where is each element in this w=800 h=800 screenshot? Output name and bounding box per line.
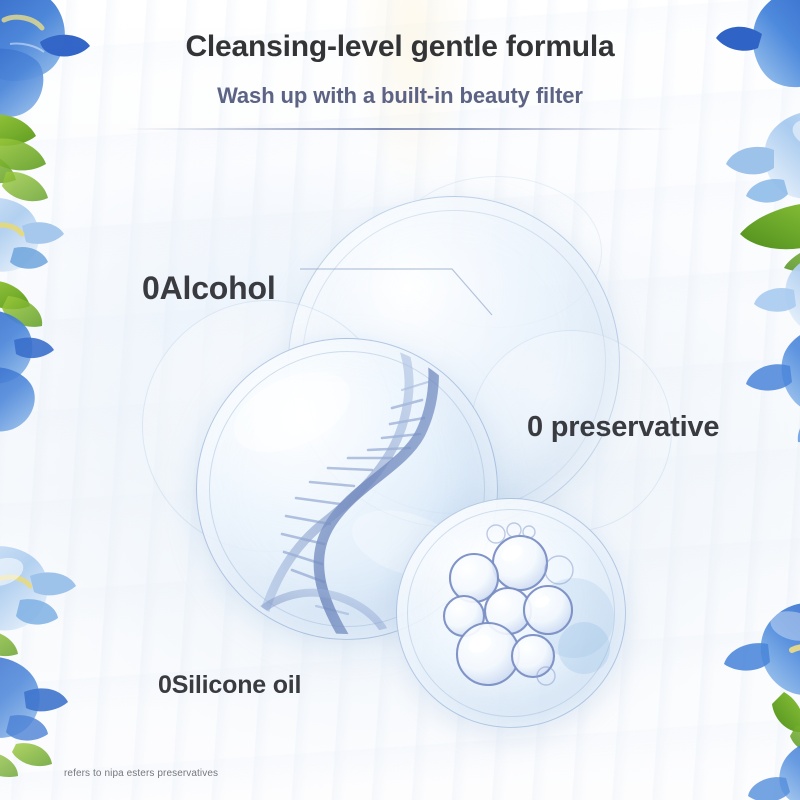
callout-label-silicone: 0Silicone oil: [158, 671, 301, 700]
header: Cleansing-level gentle formula Wash up w…: [0, 28, 800, 130]
header-divider: [124, 128, 676, 130]
callout-label-alcohol: 0Alcohol: [142, 270, 276, 307]
footnote-text: refers to nipa esters preservatives: [64, 768, 218, 779]
product-poster: Cleansing-level gentle formula Wash up w…: [0, 0, 800, 800]
petri-dish-bubbles: [396, 498, 626, 728]
callout-label-preservative: 0 preservative: [527, 411, 719, 444]
page-subtitle: Wash up with a built-in beauty filter: [0, 83, 800, 109]
page-title: Cleansing-level gentle formula: [0, 28, 800, 66]
